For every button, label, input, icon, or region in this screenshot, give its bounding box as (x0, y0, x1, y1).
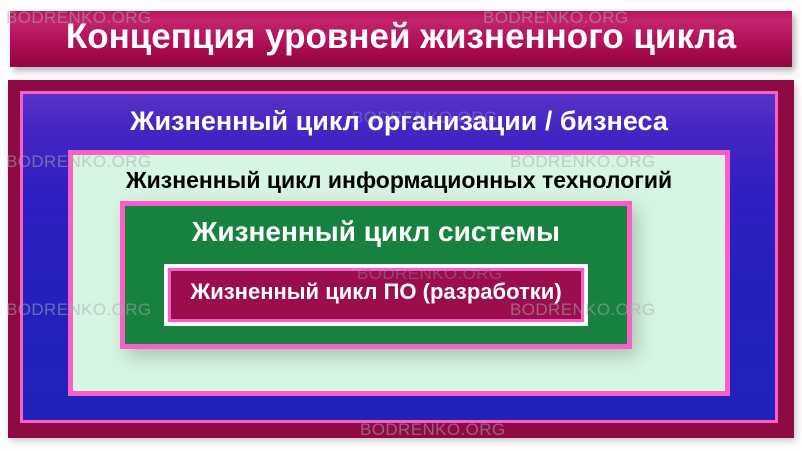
level-organization-label: Жизненный цикл организации / бизнеса (23, 106, 775, 137)
slide-canvas: Концепция уровней жизненного цикла Жизне… (0, 0, 802, 451)
level-software-white-rim: Жизненный цикл ПО (разработки) (164, 264, 588, 326)
level-it-panel: Жизненный цикл информационных технологий… (73, 155, 725, 391)
level-system-pink-rim: Жизненный цикл системы Жизненный цикл ПО… (120, 201, 632, 349)
level-software-panel: Жизненный цикл ПО (разработки) (171, 271, 581, 319)
level-it-label: Жизненный цикл информационных технологий (73, 167, 725, 194)
level-organization-outer-plate: Жизненный цикл организации / бизнеса Жиз… (8, 80, 794, 438)
level-system-label: Жизненный цикл системы (125, 216, 627, 248)
level-organization-pink-rim: Жизненный цикл организации / бизнеса Жиз… (20, 91, 778, 423)
level-it-pink-rim: Жизненный цикл информационных технологий… (68, 150, 730, 396)
level-system-panel: Жизненный цикл системы Жизненный цикл ПО… (125, 206, 627, 344)
page-title: Концепция уровней жизненного цикла (10, 11, 792, 67)
level-organization-panel: Жизненный цикл организации / бизнеса Жиз… (23, 94, 775, 420)
title-banner: Концепция уровней жизненного цикла (10, 11, 792, 67)
level-software-label: Жизненный цикл ПО (разработки) (171, 279, 581, 305)
level-software-pink-rim: Жизненный цикл ПО (разработки) (168, 268, 584, 322)
